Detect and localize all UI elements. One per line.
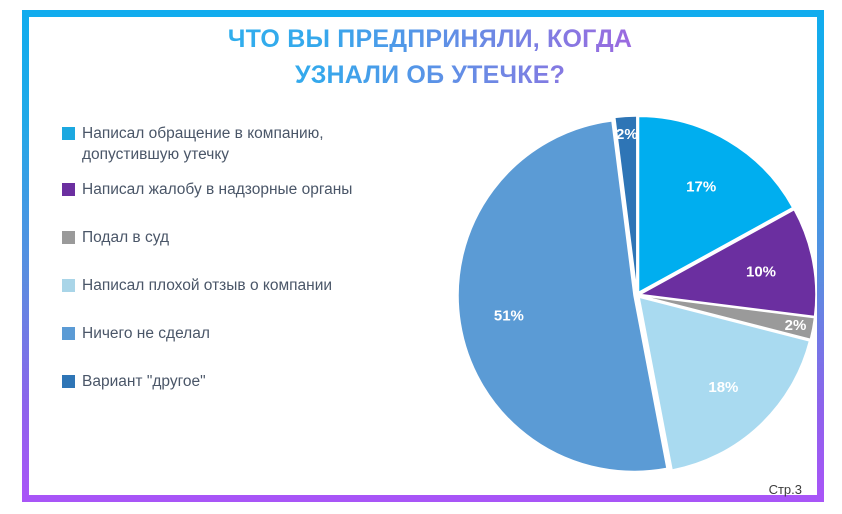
legend-item-3[interactable]: Написал плохой отзыв о компании bbox=[62, 276, 422, 297]
page-title-line-2: УЗНАЛИ ОБ УТЕЧКЕ? bbox=[150, 58, 710, 94]
pie-slice-label: 2% bbox=[616, 126, 638, 143]
pie-slice-label: 17% bbox=[686, 178, 716, 195]
legend-item-5[interactable]: Вариант "другое" bbox=[62, 372, 422, 393]
chart-legend: Написал обращение в компанию, допустившу… bbox=[62, 124, 422, 419]
page-number: Стр.3 bbox=[769, 482, 802, 497]
pie-slice-group bbox=[458, 116, 816, 471]
legend-item-label-5: Вариант "другое" bbox=[82, 372, 206, 393]
pie-slice-label: 2% bbox=[785, 317, 807, 334]
legend-swatch-icon-3 bbox=[62, 279, 75, 292]
pie-slice-label: 18% bbox=[708, 379, 738, 396]
legend-swatch-icon-2 bbox=[62, 231, 75, 244]
page-title: ЧТО ВЫ ПРЕДПРИНЯЛИ, КОГДА УЗНАЛИ ОБ УТЕЧ… bbox=[150, 22, 710, 93]
legend-item-label-2: Подал в суд bbox=[82, 228, 169, 249]
pie-slice-label: 10% bbox=[746, 263, 776, 280]
page-title-line-1: ЧТО ВЫ ПРЕДПРИНЯЛИ, КОГДА bbox=[150, 22, 710, 58]
legend-item-2[interactable]: Подал в суд bbox=[62, 228, 422, 249]
legend-item-1[interactable]: Написал жалобу в надзорные органы bbox=[62, 180, 422, 201]
legend-item-label-1: Написал жалобу в надзорные органы bbox=[82, 180, 352, 201]
pie-chart-svg: 17%10%2%18%51%2% bbox=[420, 95, 840, 495]
legend-swatch-icon-0 bbox=[62, 127, 75, 140]
pie-slice-label: 51% bbox=[494, 307, 524, 324]
legend-item-label-0: Написал обращение в компанию, допустившу… bbox=[82, 124, 324, 166]
legend-item-0[interactable]: Написал обращение в компанию, допустившу… bbox=[62, 124, 422, 166]
legend-swatch-icon-5 bbox=[62, 375, 75, 388]
legend-item-label-3: Написал плохой отзыв о компании bbox=[82, 276, 332, 297]
legend-swatch-icon-4 bbox=[62, 327, 75, 340]
pie-chart: 17%10%2%18%51%2% bbox=[420, 95, 840, 495]
legend-item-label-4: Ничего не сделал bbox=[82, 324, 210, 345]
legend-swatch-icon-1 bbox=[62, 183, 75, 196]
legend-item-4[interactable]: Ничего не сделал bbox=[62, 324, 422, 345]
slide: ЧТО ВЫ ПРЕДПРИНЯЛИ, КОГДА УЗНАЛИ ОБ УТЕЧ… bbox=[0, 0, 842, 514]
